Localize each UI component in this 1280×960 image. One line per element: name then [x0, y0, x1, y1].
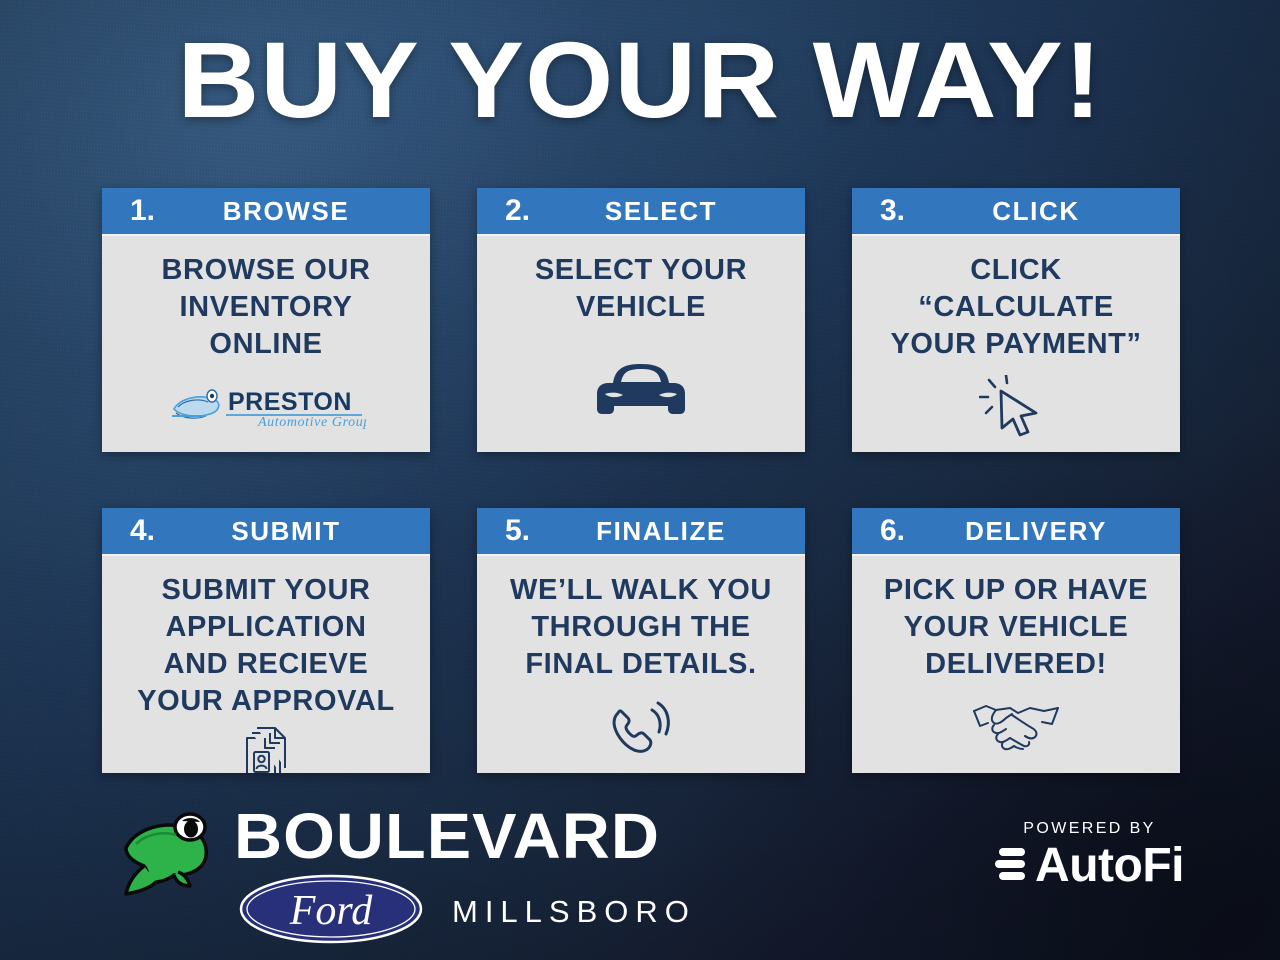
step-card-header: 5. FINALIZE: [477, 508, 805, 556]
steps-grid: 1. BROWSE BROWSE OUR INVENTORY ONLINE: [102, 188, 1180, 773]
document-person-icon: [116, 720, 416, 773]
autofi-wordmark: AutoFi: [1035, 842, 1184, 890]
step-card-browse[interactable]: 1. BROWSE BROWSE OUR INVENTORY ONLINE: [102, 188, 430, 452]
step-number: 4.: [118, 514, 180, 548]
step-card-header: 6. DELIVERY: [852, 508, 1180, 556]
step-card-body: SELECT YOUR VEHICLE: [477, 236, 805, 452]
step-card-body: CLICK “CALCULATE YOUR PAYMENT”: [852, 236, 1180, 452]
step-card-header: 2. SELECT: [477, 188, 805, 236]
preston-logo-icon: PRESTON Automotive Group: [116, 363, 416, 444]
cursor-click-icon: [866, 363, 1166, 444]
ford-badge-icon: Ford: [238, 874, 424, 949]
step-description: SUBMIT YOUR APPLICATION AND RECIEVE YOUR…: [137, 572, 395, 720]
step-card-body: BROWSE OUR INVENTORY ONLINE PRESTON: [102, 236, 430, 452]
autofi-bars-icon: [995, 844, 1029, 889]
boulevard-ford-logo[interactable]: BOULEVARD Ford MILLSBORO: [112, 804, 696, 949]
step-card-body: PICK UP OR HAVE YOUR VEHICLE DELIVERED!: [852, 556, 1180, 773]
step-card-header: 3. CLICK: [852, 188, 1180, 236]
ford-wordmark: Ford: [289, 888, 373, 934]
step-card-delivery[interactable]: 6. DELIVERY PICK UP OR HAVE YOUR VEHICLE…: [852, 508, 1180, 773]
svg-text:Automotive Group: Automotive Group: [257, 415, 366, 429]
page-title: BUY YOUR WAY!: [0, 26, 1280, 134]
dealer-city: MILLSBORO: [452, 894, 696, 930]
svg-text:PRESTON: PRESTON: [228, 388, 352, 416]
phone-ring-icon: [491, 683, 791, 765]
step-number: 3.: [868, 194, 930, 228]
step-description: CLICK “CALCULATE YOUR PAYMENT”: [890, 252, 1141, 363]
step-description: SELECT YOUR VEHICLE: [535, 252, 747, 326]
footer: BOULEVARD Ford MILLSBORO POWERED BY: [0, 790, 1280, 960]
step-label: FINALIZE: [555, 516, 789, 547]
step-description: PICK UP OR HAVE YOUR VEHICLE DELIVERED!: [884, 572, 1148, 683]
powered-by-label: POWERED BY: [1023, 820, 1155, 838]
step-card-body: SUBMIT YOUR APPLICATION AND RECIEVE YOUR…: [102, 556, 430, 773]
step-number: 2.: [493, 194, 555, 228]
step-description: BROWSE OUR INVENTORY ONLINE: [162, 252, 371, 363]
step-number: 1.: [118, 194, 180, 228]
step-card-submit[interactable]: 4. SUBMIT SUBMIT YOUR APPLICATION AND RE…: [102, 508, 430, 773]
frog-icon: [112, 804, 220, 905]
step-card-header: 4. SUBMIT: [102, 508, 430, 556]
car-icon: [491, 326, 791, 444]
poster-canvas: BUY YOUR WAY! 1. BROWSE BROWSE OUR INVEN…: [0, 0, 1280, 960]
step-label: SELECT: [555, 196, 789, 227]
step-description: WE’LL WALK YOU THROUGH THE FINAL DETAILS…: [510, 572, 772, 683]
step-card-body: WE’LL WALK YOU THROUGH THE FINAL DETAILS…: [477, 556, 805, 773]
step-label: SUBMIT: [180, 516, 414, 547]
brand-name: BOULEVARD: [234, 804, 714, 868]
step-label: BROWSE: [180, 196, 414, 227]
step-card-finalize[interactable]: 5. FINALIZE WE’LL WALK YOU THROUGH THE F…: [477, 508, 805, 773]
step-card-header: 1. BROWSE: [102, 188, 430, 236]
handshake-icon: [866, 683, 1166, 765]
step-number: 5.: [493, 514, 555, 548]
step-number: 6.: [868, 514, 930, 548]
autofi-logo[interactable]: POWERED BY AutoFi: [995, 820, 1184, 890]
step-label: DELIVERY: [930, 516, 1164, 547]
step-card-select[interactable]: 2. SELECT SELECT YOUR VEHICLE: [477, 188, 805, 452]
step-card-click[interactable]: 3. CLICK CLICK “CALCULATE YOUR PAYMENT”: [852, 188, 1180, 452]
step-label: CLICK: [930, 196, 1164, 227]
